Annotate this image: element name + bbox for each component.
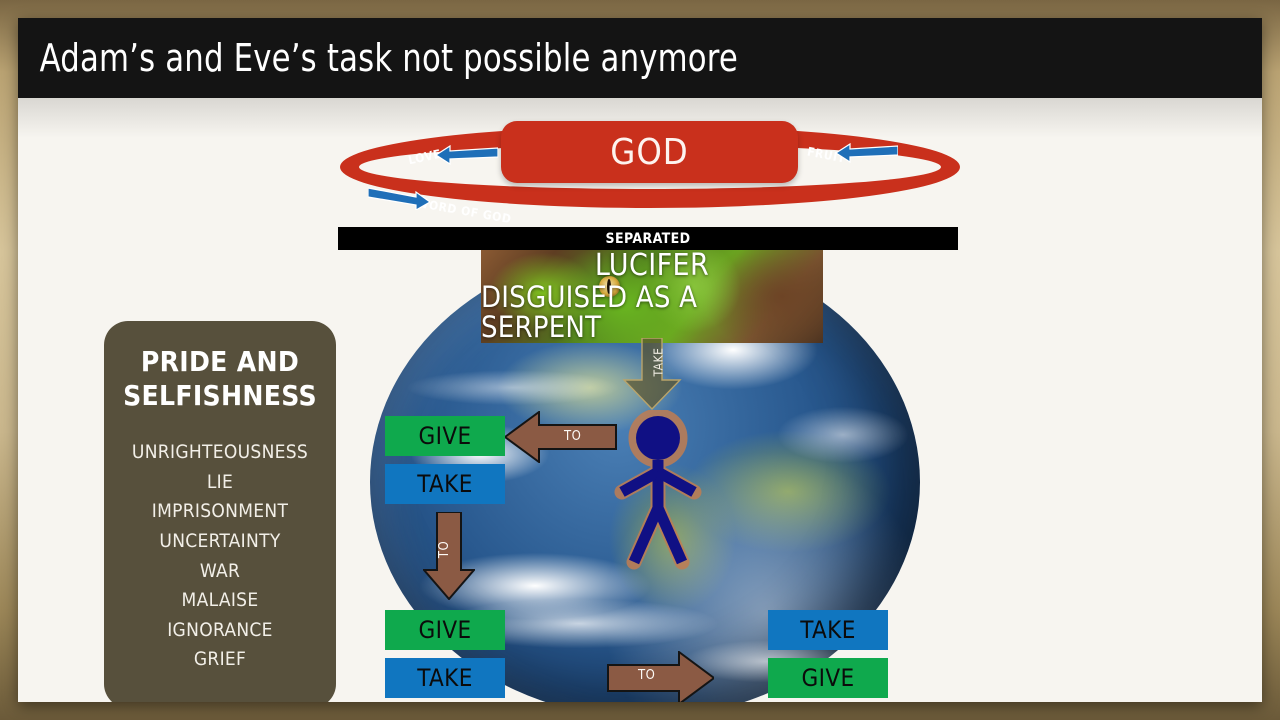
god-banner: GOD	[501, 121, 798, 183]
slide-canvas: Adam’s and Eve’s task not possible anymo…	[18, 18, 1262, 702]
serpent-disguise-label: DISGUISED AS A SERPENT	[481, 282, 823, 343]
list-item: UNCERTAINTY	[159, 528, 280, 556]
left-arrow-icon-fruit	[836, 142, 898, 164]
arrow-label-to-left: TO	[564, 429, 581, 444]
list-item: GRIEF	[194, 646, 246, 674]
arrow-label-to-down: TO	[437, 541, 452, 558]
list-item: IGNORANCE	[167, 617, 273, 645]
list-item: UNRIGHTEOUSNESS	[132, 439, 308, 467]
god-label: GOD	[610, 132, 689, 173]
separated-bar: SEPARATED	[338, 227, 958, 250]
left-arrow-icon-love	[436, 144, 498, 166]
list-item: MALAISE	[182, 587, 259, 615]
serpent-image-box: LUCIFER DISGUISED AS A SERPENT	[481, 250, 823, 343]
list-item: WAR	[200, 558, 240, 586]
take-box-lower-right[interactable]: TAKE	[768, 610, 888, 650]
pride-and-selfishness-panel: PRIDE AND SELFISHNESS UNRIGHTEOUSNESS LI…	[104, 321, 336, 702]
human-stick-figure-icon	[610, 410, 706, 570]
sin-title-line-1: PRIDE AND	[123, 345, 317, 379]
right-arrow-icon-word-of-god	[368, 186, 430, 210]
sin-title-line-2: SELFISHNESS	[123, 379, 317, 413]
right-arrow-icon-to	[607, 651, 714, 702]
lucifer-label: LUCIFER	[595, 250, 709, 282]
give-box-lower-left[interactable]: GIVE	[385, 610, 505, 650]
list-item: LIE	[207, 469, 233, 497]
left-arrow-icon-to	[505, 411, 617, 463]
slide-title-bar: Adam’s and Eve’s task not possible anymo…	[18, 18, 1262, 98]
separated-label: SEPARATED	[606, 231, 691, 247]
sin-list: UNRIGHTEOUSNESS LIE IMPRISONMENT UNCERTA…	[132, 439, 308, 673]
page-title: Adam’s and Eve’s task not possible anymo…	[18, 36, 738, 80]
arrow-label-to-right: TO	[638, 668, 655, 683]
list-item: IMPRISONMENT	[152, 498, 288, 526]
arrow-label-take: TAKE	[651, 348, 665, 377]
take-box-lower-left[interactable]: TAKE	[385, 658, 505, 698]
give-box-lower-right[interactable]: GIVE	[768, 658, 888, 698]
give-box-upper-left[interactable]: GIVE	[385, 416, 505, 456]
take-box-upper-left[interactable]: TAKE	[385, 464, 505, 504]
slide-frame: Adam’s and Eve’s task not possible anymo…	[0, 0, 1280, 720]
serpent-caption: LUCIFER DISGUISED AS A SERPENT	[481, 250, 823, 343]
sin-panel-title: PRIDE AND SELFISHNESS	[123, 345, 317, 413]
